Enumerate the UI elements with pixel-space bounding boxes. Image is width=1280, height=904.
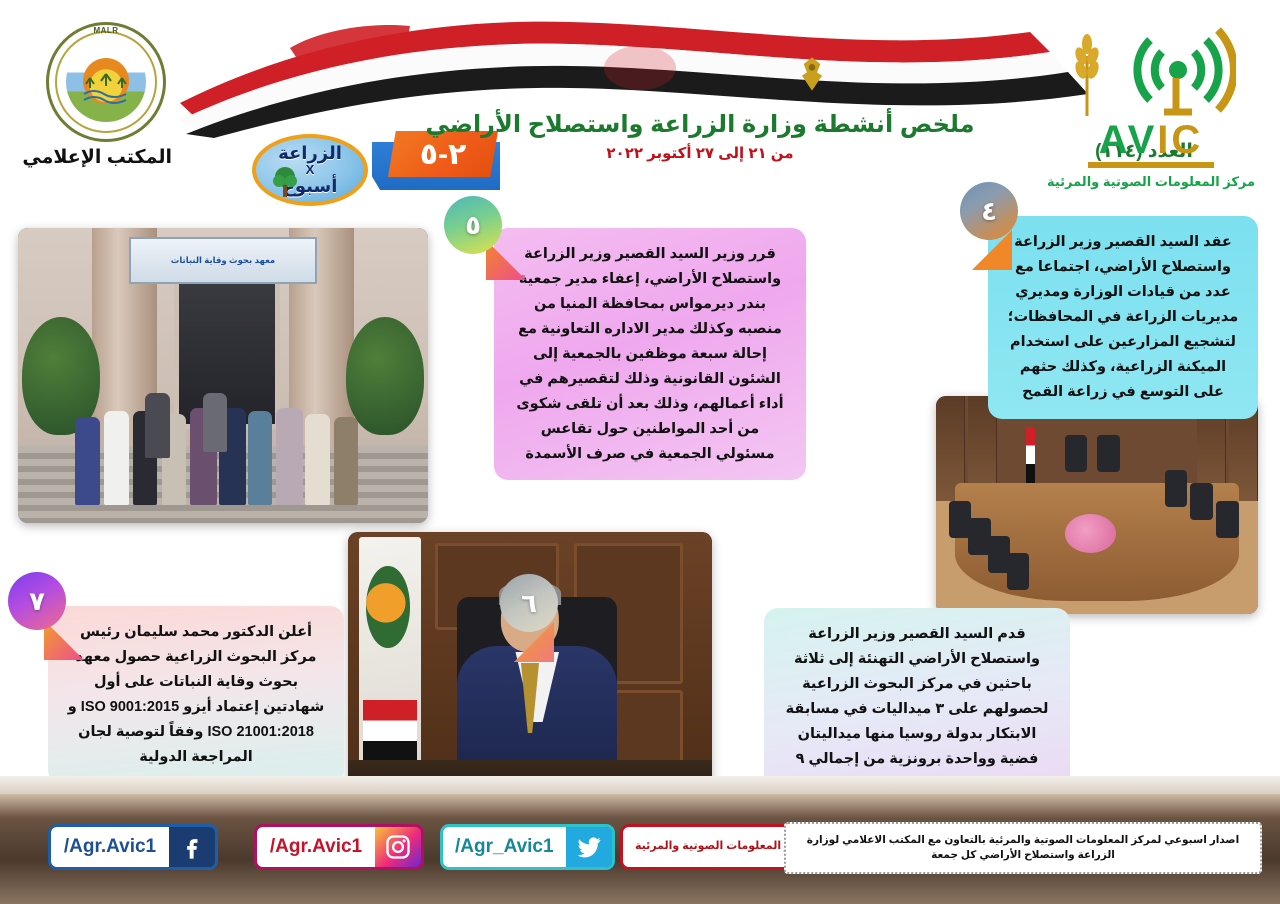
avic-wordmark: AVIC bbox=[1066, 118, 1236, 163]
malr-acronym: MALR bbox=[46, 26, 166, 35]
minister-portrait-photo bbox=[348, 532, 712, 804]
item-number-badge-5: ٥ bbox=[444, 196, 502, 254]
instagram-icon bbox=[375, 824, 421, 870]
avic-logo: AVIC مركز المعلومات الصوتية والمرئية bbox=[1066, 26, 1236, 176]
wheat-icon bbox=[1070, 30, 1104, 116]
footer-note: اصدار اسبوعي لمركز المعلومات الصوتية وال… bbox=[784, 822, 1262, 874]
social-link-instagram[interactable]: /Agr.Avic1 bbox=[254, 824, 424, 870]
institute-sign-text: معهد بحوث وقاية النباتات bbox=[171, 255, 275, 266]
media-office-label: المكتب الإعلامي bbox=[40, 146, 172, 169]
social-link-facebook[interactable]: /Agr.Avic1 bbox=[48, 824, 218, 870]
iso-join: و bbox=[68, 699, 77, 715]
tree-icon bbox=[272, 166, 298, 198]
newsletter-page: MALR المكتب الإعلامي الزراعة X أسبوع ٢-٥… bbox=[0, 0, 1280, 904]
footer-divider bbox=[0, 776, 1280, 794]
news-card-5: قرر وزير السيد القصير وزير الزراعة واستص… bbox=[494, 228, 806, 480]
plant-protection-institute-photo: معهد بحوث وقاية النباتات bbox=[18, 228, 428, 523]
item-number-badge-7: ٧ bbox=[8, 572, 66, 630]
instagram-handle: /Agr.Avic1 bbox=[257, 824, 375, 870]
iso-cert-1: ISO 9001:2015 bbox=[81, 695, 179, 720]
twitter-icon bbox=[566, 824, 612, 870]
malr-ministry-logo: MALR المكتب الإعلامي bbox=[46, 22, 166, 142]
item-number-badge-6: ٦ bbox=[500, 574, 558, 632]
item-number-badge-4: ٤ bbox=[960, 182, 1018, 240]
badge-line-1: الزراعة bbox=[278, 143, 342, 163]
iso-cert-2: ISO 21001:2018 bbox=[207, 720, 313, 745]
twitter-handle: /Agr_Avic1 bbox=[443, 824, 566, 870]
ministry-meeting-photo bbox=[936, 396, 1258, 614]
facebook-icon bbox=[169, 824, 215, 870]
page-title: ملخص أنشطة وزارة الزراعة واستصلاح الأراض… bbox=[420, 110, 980, 139]
date-range: من ٢١ إلى ٢٧ أكتوبر ٢٠٢٢ bbox=[490, 144, 910, 162]
page-tab-label: ٢-٥ bbox=[420, 137, 467, 172]
facebook-handle: /Agr.Avic1 bbox=[51, 824, 169, 870]
news-card-7: أعلن الدكتور محمد سليمان رئيس مركز البحو… bbox=[48, 606, 344, 784]
agriculture-week-badge: الزراعة X أسبوع bbox=[252, 134, 368, 206]
broadcast-waves-icon bbox=[1106, 26, 1236, 118]
avic-subtitle: مركز المعلومات الصوتية والمرئية bbox=[1040, 174, 1262, 190]
news-card-4: عقد السيد القصير وزير الزراعة واستصلاح ا… bbox=[988, 216, 1258, 419]
egypt-eagle-emblem-icon bbox=[795, 54, 829, 94]
social-link-twitter[interactable]: /Agr_Avic1 bbox=[440, 824, 615, 870]
